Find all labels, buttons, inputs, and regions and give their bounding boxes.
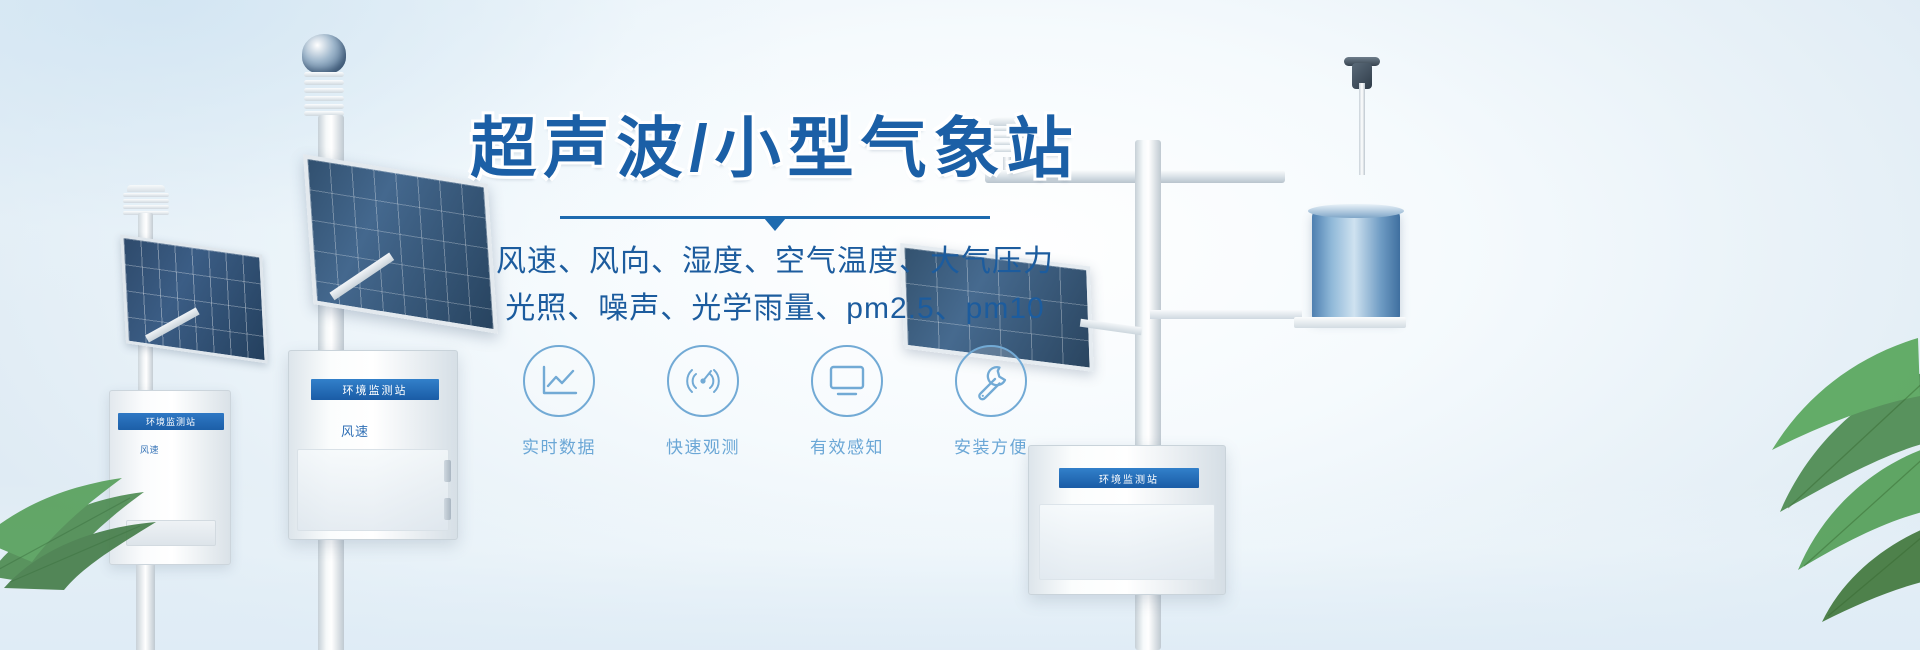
title-divider	[560, 214, 990, 230]
monitor-icon	[827, 364, 867, 398]
feature-item-effective-sensing[interactable]: 有效感知	[803, 345, 891, 458]
feature-label: 安装方便	[947, 433, 1035, 458]
wind-vane-anemometer	[1342, 55, 1382, 175]
radar-signal-icon	[683, 361, 723, 401]
wrench-icon	[971, 361, 1011, 401]
subtitle-line-1: 风速、风向、湿度、空气温度、大气压力	[455, 236, 1095, 280]
brand-mark-small: 风速	[140, 443, 159, 456]
feature-item-fast-observation[interactable]: 快速观测	[659, 345, 747, 458]
feature-icon-ring	[523, 345, 595, 417]
cabinet-door-tall	[297, 449, 449, 531]
divider-triangle-icon	[764, 218, 786, 231]
weather-station-small: 环境监测站 风速	[95, 185, 285, 650]
brand-mark-tall: 风速	[341, 421, 369, 440]
base-pole-small	[136, 565, 155, 650]
line-chart-icon	[539, 363, 579, 399]
feature-item-easy-install[interactable]: 安装方便	[947, 345, 1035, 458]
feature-label: 实时数据	[515, 433, 603, 458]
device-label-strip-tall: 环境监测站	[311, 379, 439, 400]
banner-content: 超声波/小型气象站 风速、风向、湿度、空气温度、大气压力 光照、噪声、光学雨量、…	[455, 0, 1095, 650]
rain-gauge-sensor	[1312, 210, 1400, 320]
device-label-strip-small: 环境监测站	[118, 413, 224, 430]
vent-panel-small	[126, 520, 216, 546]
feature-list: 实时数据 快速观测	[515, 345, 1035, 458]
tropical-leaf-right	[1630, 330, 1920, 630]
feature-icon-ring	[955, 345, 1027, 417]
control-cabinet-tall: 环境监测站 风速	[288, 350, 458, 540]
feature-icon-ring	[667, 345, 739, 417]
product-banner: 环境监测站 风速 环境监测站 风速	[0, 0, 1920, 650]
page-title: 超声波/小型气象站	[455, 112, 1095, 186]
equipment-shelf	[1294, 317, 1406, 328]
feature-item-realtime-data[interactable]: 实时数据	[515, 345, 603, 458]
total-sky-dome-sensor	[302, 34, 346, 74]
cabinet-hinge	[444, 498, 451, 520]
feature-label: 快速观测	[659, 433, 747, 458]
equipment-shelf-arm	[1150, 310, 1302, 319]
radiation-shield-sensor-tall	[304, 72, 344, 116]
control-box-small: 环境监测站 风速	[109, 390, 231, 565]
cabinet-hinge	[444, 460, 451, 482]
solar-panel-small	[120, 234, 267, 363]
feature-label: 有效感知	[803, 433, 891, 458]
feature-icon-ring	[811, 345, 883, 417]
subtitle-line-2: 光照、噪声、光学雨量、pm2.5、pm10	[455, 283, 1095, 327]
